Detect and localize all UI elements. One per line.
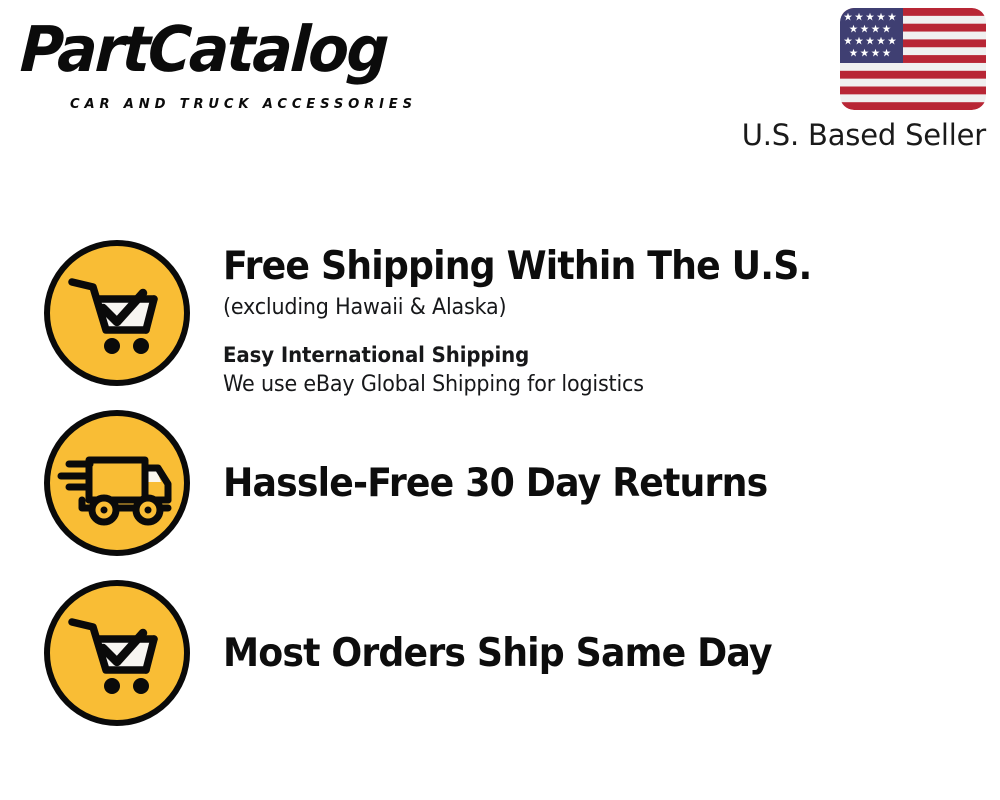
brand-tagline: CAR AND TRUCK ACCESSORIES	[70, 96, 417, 112]
feature-heading: Hassle-Free 30 Day Returns	[223, 463, 946, 505]
feature-text-block: Hassle-Free 30 Day Returns	[223, 408, 1000, 505]
feature-list: Free Shipping Within The U.S. (excluding…	[0, 238, 1000, 748]
feature-text-block: Most Orders Ship Same Day	[223, 578, 1000, 675]
feature-subdetail-international: We use eBay Global Shipping for logistic…	[223, 371, 953, 399]
shipping-info-banner: PartCatalog CAR AND TRUCK ACCESSORIES	[0, 0, 1000, 800]
us-based-seller-label: U.S. Based Seller	[742, 120, 986, 152]
shopping-cart-check-icon	[42, 578, 192, 728]
feature-icon-slot	[41, 238, 193, 388]
delivery-truck-icon	[42, 408, 192, 558]
feature-subtitle-international: Easy International Shipping	[223, 342, 953, 369]
feature-heading: Most Orders Ship Same Day	[223, 633, 946, 675]
brand-wordmark: PartCatalog	[19, 18, 388, 81]
feature-heading: Free Shipping Within The U.S.	[223, 246, 946, 288]
us-flag-icon	[840, 8, 986, 110]
feature-subnote: (excluding Hawaii & Alaska)	[223, 294, 953, 322]
brand-logo: PartCatalog CAR AND TRUCK ACCESSORIES	[22, 18, 492, 118]
feature-icon-slot	[41, 578, 193, 728]
us-based-seller-badge: U.S. Based Seller	[724, 8, 986, 152]
feature-row-same-day-shipping: Most Orders Ship Same Day	[0, 578, 1000, 748]
feature-text-block: Free Shipping Within The U.S. (excluding…	[223, 238, 1000, 399]
feature-icon-slot	[41, 408, 193, 558]
shopping-cart-check-icon	[42, 238, 192, 388]
feature-row-free-shipping: Free Shipping Within The U.S. (excluding…	[0, 238, 1000, 408]
feature-row-returns: Hassle-Free 30 Day Returns	[0, 408, 1000, 578]
